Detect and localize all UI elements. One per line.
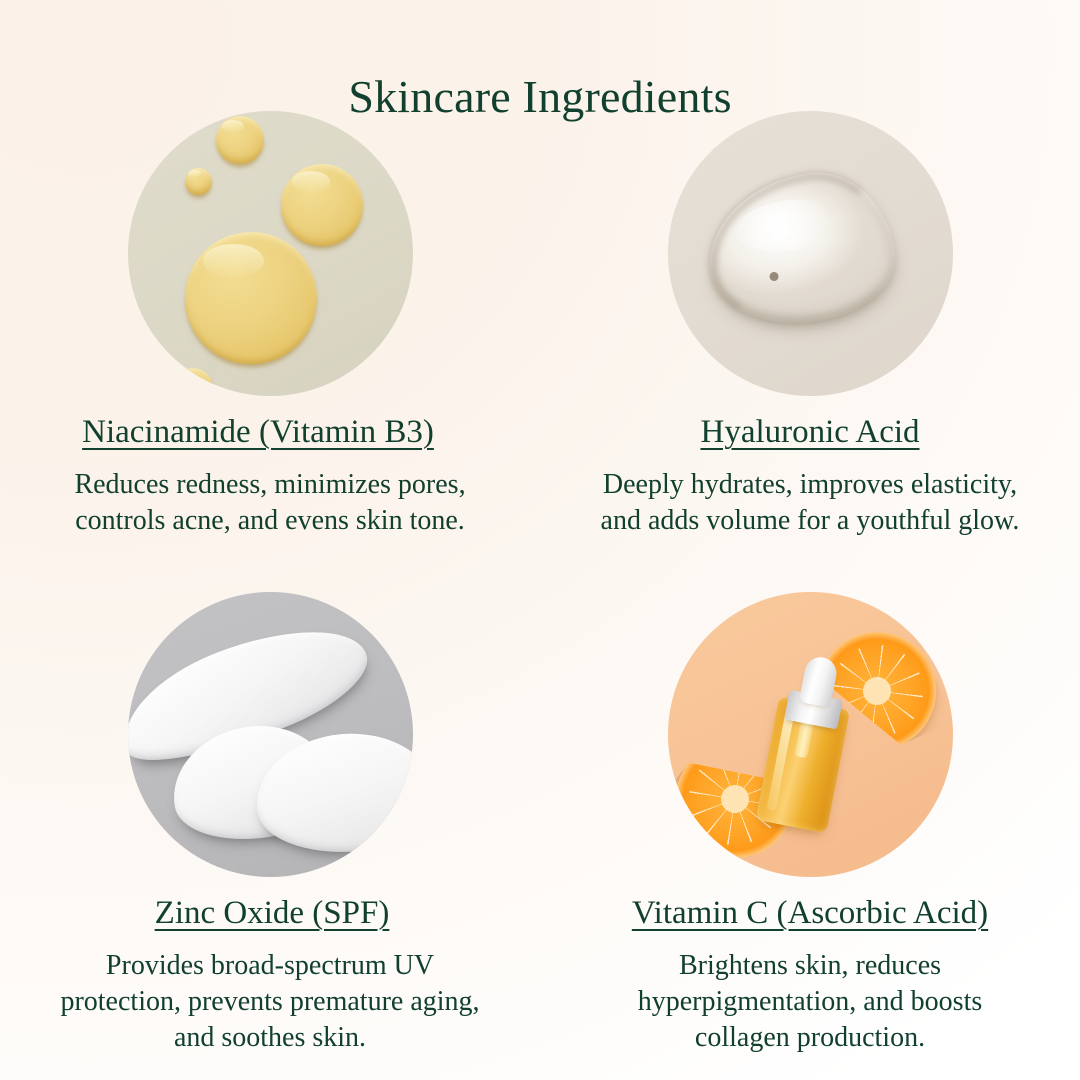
ingredient-card-niacinamide: Niacinamide (Vitamin B3) Reduces redness… — [0, 108, 540, 589]
serum-bottle-media — [668, 592, 953, 877]
ingredient-heading: Vitamin C (Ascorbic Acid) — [632, 895, 988, 931]
serum-dropper-bottle — [755, 653, 858, 834]
ingredient-heading: Hyaluronic Acid — [700, 414, 919, 450]
ingredient-card-zinc-oxide: Zinc Oxide (SPF) Provides broad-spectrum… — [0, 589, 540, 1070]
ingredient-card-hyaluronic-acid: Hyaluronic Acid Deeply hydrates, improve… — [540, 108, 1080, 589]
oil-droplet-medium — [281, 164, 363, 246]
ingredient-heading: Niacinamide (Vitamin B3) — [82, 414, 434, 450]
ingredient-description: Brightens skin, reduces hyperpigmentatio… — [601, 948, 1019, 1055]
cream-swatch-media — [128, 592, 413, 877]
gel-blob-media — [668, 111, 953, 396]
ingredient-heading: Zinc Oxide (SPF) — [155, 895, 390, 931]
ingredient-description: Deeply hydrates, improves elasticity, an… — [595, 467, 1025, 539]
infographic-poster: Skincare Ingredients Niacinamide (Vitami… — [0, 0, 1080, 1080]
serum-bottle-orange-slices-photo — [668, 592, 953, 877]
oil-droplet-tiny — [185, 168, 212, 195]
ingredient-card-vitamin-c: Vitamin C (Ascorbic Acid) Brightens skin… — [540, 589, 1080, 1070]
gel-droplet-rim — [698, 163, 903, 335]
white-cream-swatch-photo — [128, 592, 413, 877]
ingredient-grid: Niacinamide (Vitamin B3) Reduces redness… — [0, 108, 1080, 1080]
oil-droplet-top — [216, 116, 264, 164]
oil-droplets-media — [128, 111, 413, 396]
ingredient-description: Reduces redness, minimizes pores, contro… — [60, 467, 480, 539]
oil-droplets-photo — [128, 111, 413, 396]
gel-droplet-shape — [698, 163, 903, 335]
ingredient-description: Provides broad-spectrum UV protection, p… — [55, 948, 485, 1055]
clear-gel-blob-photo — [668, 111, 953, 396]
oil-droplet-large — [185, 232, 317, 364]
